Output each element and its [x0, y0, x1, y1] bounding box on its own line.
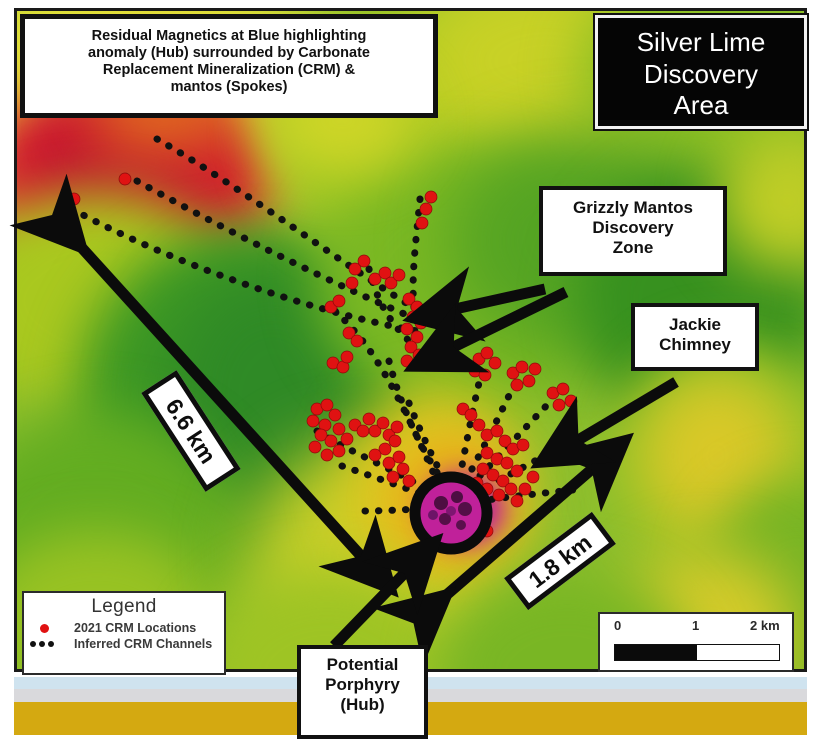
slide-root: .ch{stroke:#111111;stroke-width:7;stroke… — [0, 0, 821, 739]
caption-line-1: Residual Magnetics at Blue highlighting — [35, 28, 423, 45]
scale-tick-1: 1 — [692, 618, 699, 633]
map-caption: Residual Magnetics at Blue highlighting … — [20, 14, 438, 118]
title-line-1: Silver Lime — [598, 27, 804, 59]
porphyry-hub-circle — [415, 477, 487, 549]
legend-label-crm-locations: 2021 CRM Locations — [74, 621, 196, 635]
page-title: Silver Lime Discovery Area — [595, 15, 807, 129]
jackie-line-1: Jackie — [635, 315, 755, 335]
legend: Legend 2021 CRM Locations Inferred CRM C… — [22, 591, 226, 675]
scale-tick-2: 2 km — [750, 618, 780, 633]
grizzly-mantos-label: Grizzly Mantos Discovery Zone — [539, 186, 727, 276]
legend-item-crm-channels: Inferred CRM Channels — [24, 636, 224, 652]
scale-bar: 0 1 2 km — [598, 612, 794, 672]
title-line-2: Discovery — [598, 59, 804, 91]
legend-title: Legend — [24, 596, 224, 618]
porphyry-line-1: Potential — [301, 655, 424, 675]
grizzly-line-2: Discovery — [543, 218, 723, 238]
caption-line-4: mantos (Spokes) — [35, 79, 423, 96]
jackie-line-2: Chimney — [635, 335, 755, 355]
scale-tick-labels: 0 1 2 km — [600, 614, 792, 638]
jackie-chimney-label: Jackie Chimney — [631, 303, 759, 371]
legend-label-crm-channels: Inferred CRM Channels — [74, 637, 212, 651]
scale-tick-0: 0 — [614, 618, 621, 633]
red-dot-icon — [30, 624, 74, 633]
dotted-line-icon — [30, 641, 74, 647]
title-line-3: Area — [598, 90, 804, 122]
caption-line-3: Replacement Mineralization (CRM) & — [35, 62, 423, 79]
legend-item-crm-locations: 2021 CRM Locations — [24, 620, 224, 636]
potential-porphyry-label: Potential Porphyry (Hub) — [297, 645, 428, 739]
grizzly-line-1: Grizzly Mantos — [543, 198, 723, 218]
grizzly-line-3: Zone — [543, 238, 723, 258]
porphyry-line-2: Porphyry — [301, 675, 424, 695]
porphyry-line-3: (Hub) — [301, 695, 424, 715]
caption-line-2: anomaly (Hub) surrounded by Carbonate — [35, 45, 423, 62]
scale-bar-graphic — [614, 644, 780, 661]
